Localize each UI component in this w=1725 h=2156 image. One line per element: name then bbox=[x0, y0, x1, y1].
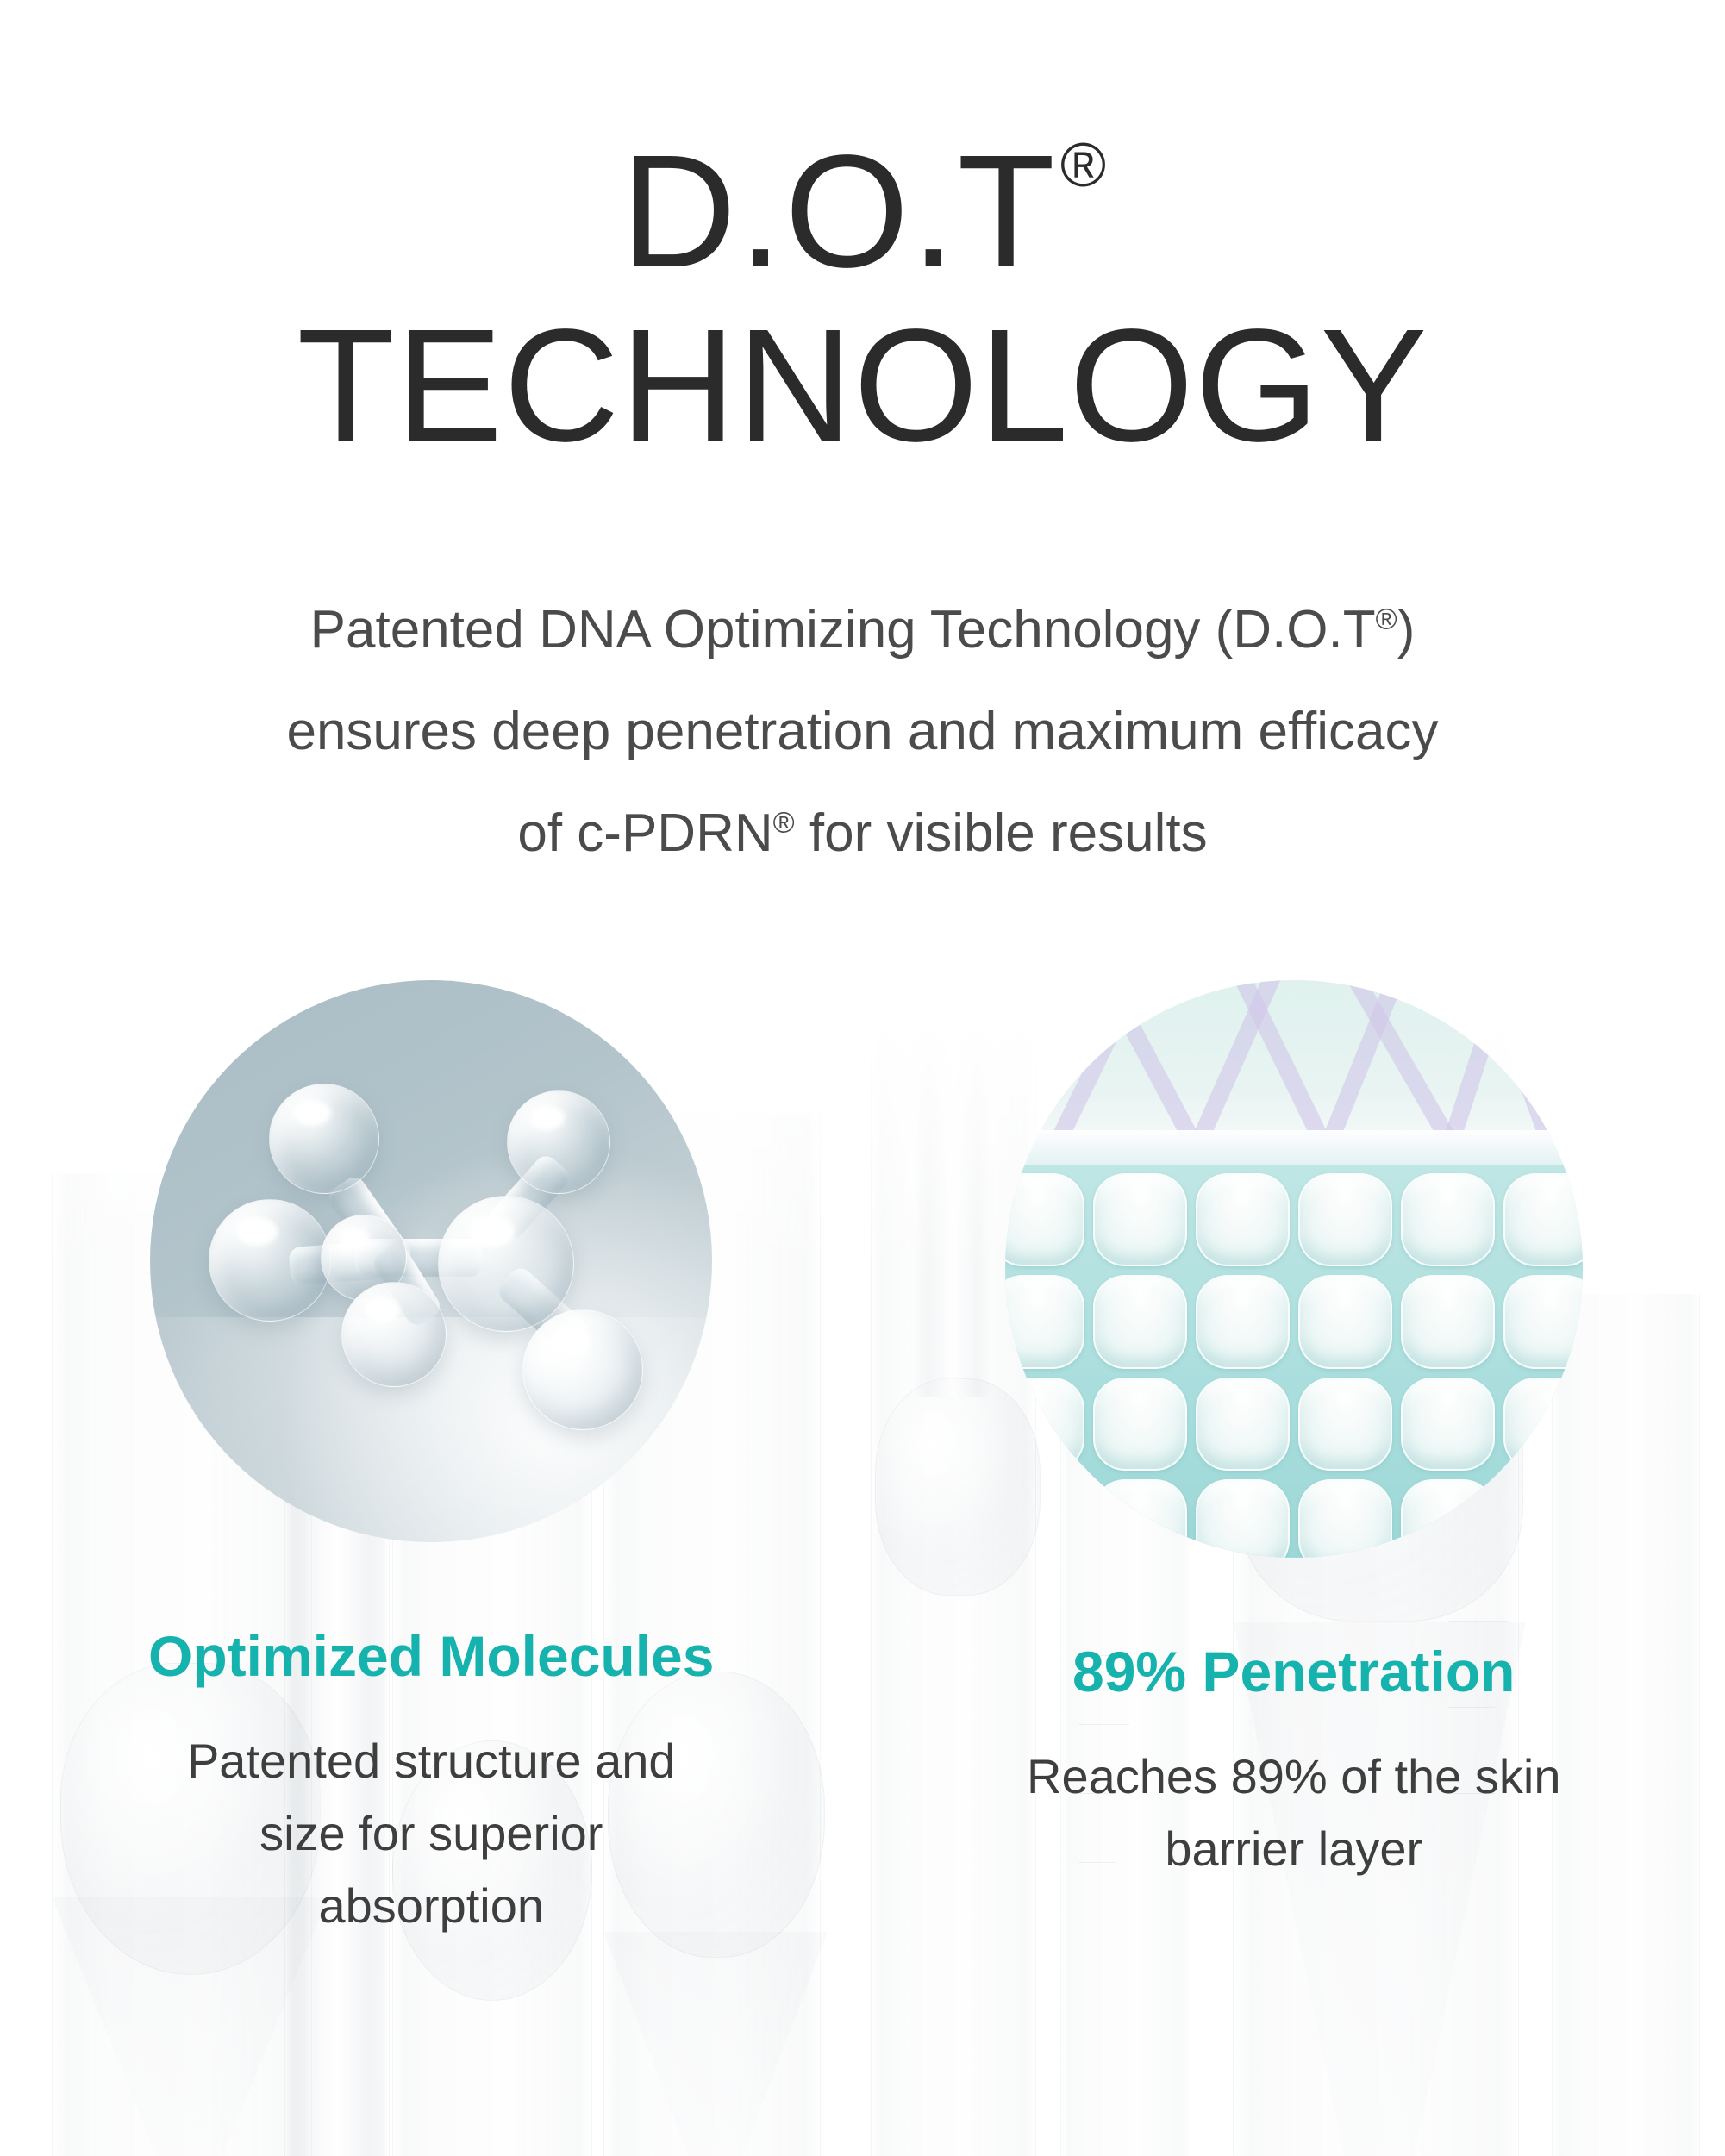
barrier-cell bbox=[1093, 1275, 1187, 1368]
barrier-cell bbox=[1005, 1378, 1084, 1471]
registered-trademark-icon: ® bbox=[1376, 603, 1397, 635]
feature-column-optimized-molecules: Optimized Molecules Patented structure a… bbox=[0, 980, 863, 1942]
subtitle-paragraph: Patented DNA Optimizing Technology (D.O.… bbox=[122, 579, 1604, 884]
subtitle-line-3-suffix: for visible results bbox=[795, 803, 1208, 863]
barrier-cell bbox=[1298, 1479, 1392, 1558]
subtitle-line-2: ensures deep penetration and maximum eff… bbox=[122, 681, 1604, 783]
title-dot-text: D.O.T bbox=[621, 122, 1057, 301]
subtitle-line-3: of c-PDRN® for visible results bbox=[122, 783, 1604, 884]
molecule-atom bbox=[438, 1196, 574, 1332]
subtitle-line-1-suffix: ) bbox=[1397, 600, 1416, 659]
feature-heading: Optimized Molecules bbox=[148, 1625, 714, 1687]
feature-columns: Optimized Molecules Patented structure a… bbox=[0, 980, 1725, 1942]
title-line-dot: D.O.T® bbox=[621, 128, 1104, 297]
molecule-atom bbox=[522, 1309, 643, 1430]
barrier-cell bbox=[1503, 1275, 1583, 1368]
barrier-cell bbox=[1196, 1275, 1290, 1368]
feature-body-text: Patented structure and size for superior… bbox=[147, 1725, 716, 1942]
barrier-cell bbox=[1503, 1479, 1583, 1558]
barrier-cell bbox=[1005, 1479, 1084, 1558]
dot-technology-infographic: D.O.T® TECHNOLOGY Patented DNA Optimizin… bbox=[0, 0, 1725, 2156]
barrier-cell bbox=[1401, 1479, 1495, 1558]
feature-body-text: Reaches 89% of the skin barrier layer bbox=[1009, 1740, 1578, 1885]
barrier-cell bbox=[1401, 1173, 1495, 1266]
molecule-atom bbox=[269, 1084, 379, 1194]
barrier-cell bbox=[1093, 1173, 1187, 1266]
barrier-cell bbox=[1196, 1173, 1290, 1266]
registered-trademark-icon: ® bbox=[773, 806, 795, 839]
barrier-cell bbox=[1401, 1378, 1495, 1471]
barrier-cell bbox=[1093, 1479, 1187, 1558]
molecule-atom bbox=[507, 1090, 610, 1194]
barrier-cell bbox=[1196, 1378, 1290, 1471]
barrier-cell bbox=[1093, 1378, 1187, 1471]
feature-heading: 89% Penetration bbox=[1072, 1640, 1516, 1703]
molecule-atom bbox=[341, 1282, 447, 1387]
dna-strand bbox=[1035, 980, 1153, 1136]
barrier-cell bbox=[1298, 1378, 1392, 1471]
molecule-atom bbox=[209, 1199, 331, 1322]
subtitle-line-1: Patented DNA Optimizing Technology (D.O.… bbox=[122, 579, 1604, 681]
subtitle-line-3-text: of c-PDRN bbox=[517, 803, 772, 863]
molecule-render-circle-image bbox=[150, 980, 712, 1542]
page-title: D.O.T® TECHNOLOGY bbox=[0, 128, 1725, 471]
barrier-cell bbox=[1503, 1173, 1583, 1266]
feature-column-penetration: 89% Penetration Reaches 89% of the skin … bbox=[863, 980, 1725, 1942]
barrier-cell bbox=[1196, 1479, 1290, 1558]
barrier-cell bbox=[1005, 1173, 1084, 1266]
skin-barrier-cell-grid bbox=[1005, 1165, 1583, 1558]
barrier-cell bbox=[1005, 1275, 1084, 1368]
barrier-cell bbox=[1503, 1378, 1583, 1471]
barrier-cell bbox=[1298, 1173, 1392, 1266]
registered-trademark-icon: ® bbox=[1060, 131, 1108, 200]
dna-helix-layer bbox=[1005, 980, 1583, 1136]
title-line-technology: TECHNOLOGY bbox=[0, 302, 1725, 471]
dna-strand bbox=[1090, 980, 1215, 1136]
barrier-cell bbox=[1401, 1275, 1495, 1368]
skin-barrier-render-circle-image bbox=[1005, 980, 1583, 1558]
barrier-cell bbox=[1298, 1275, 1392, 1368]
subtitle-line-1-text: Patented DNA Optimizing Technology (D.O.… bbox=[310, 600, 1376, 659]
